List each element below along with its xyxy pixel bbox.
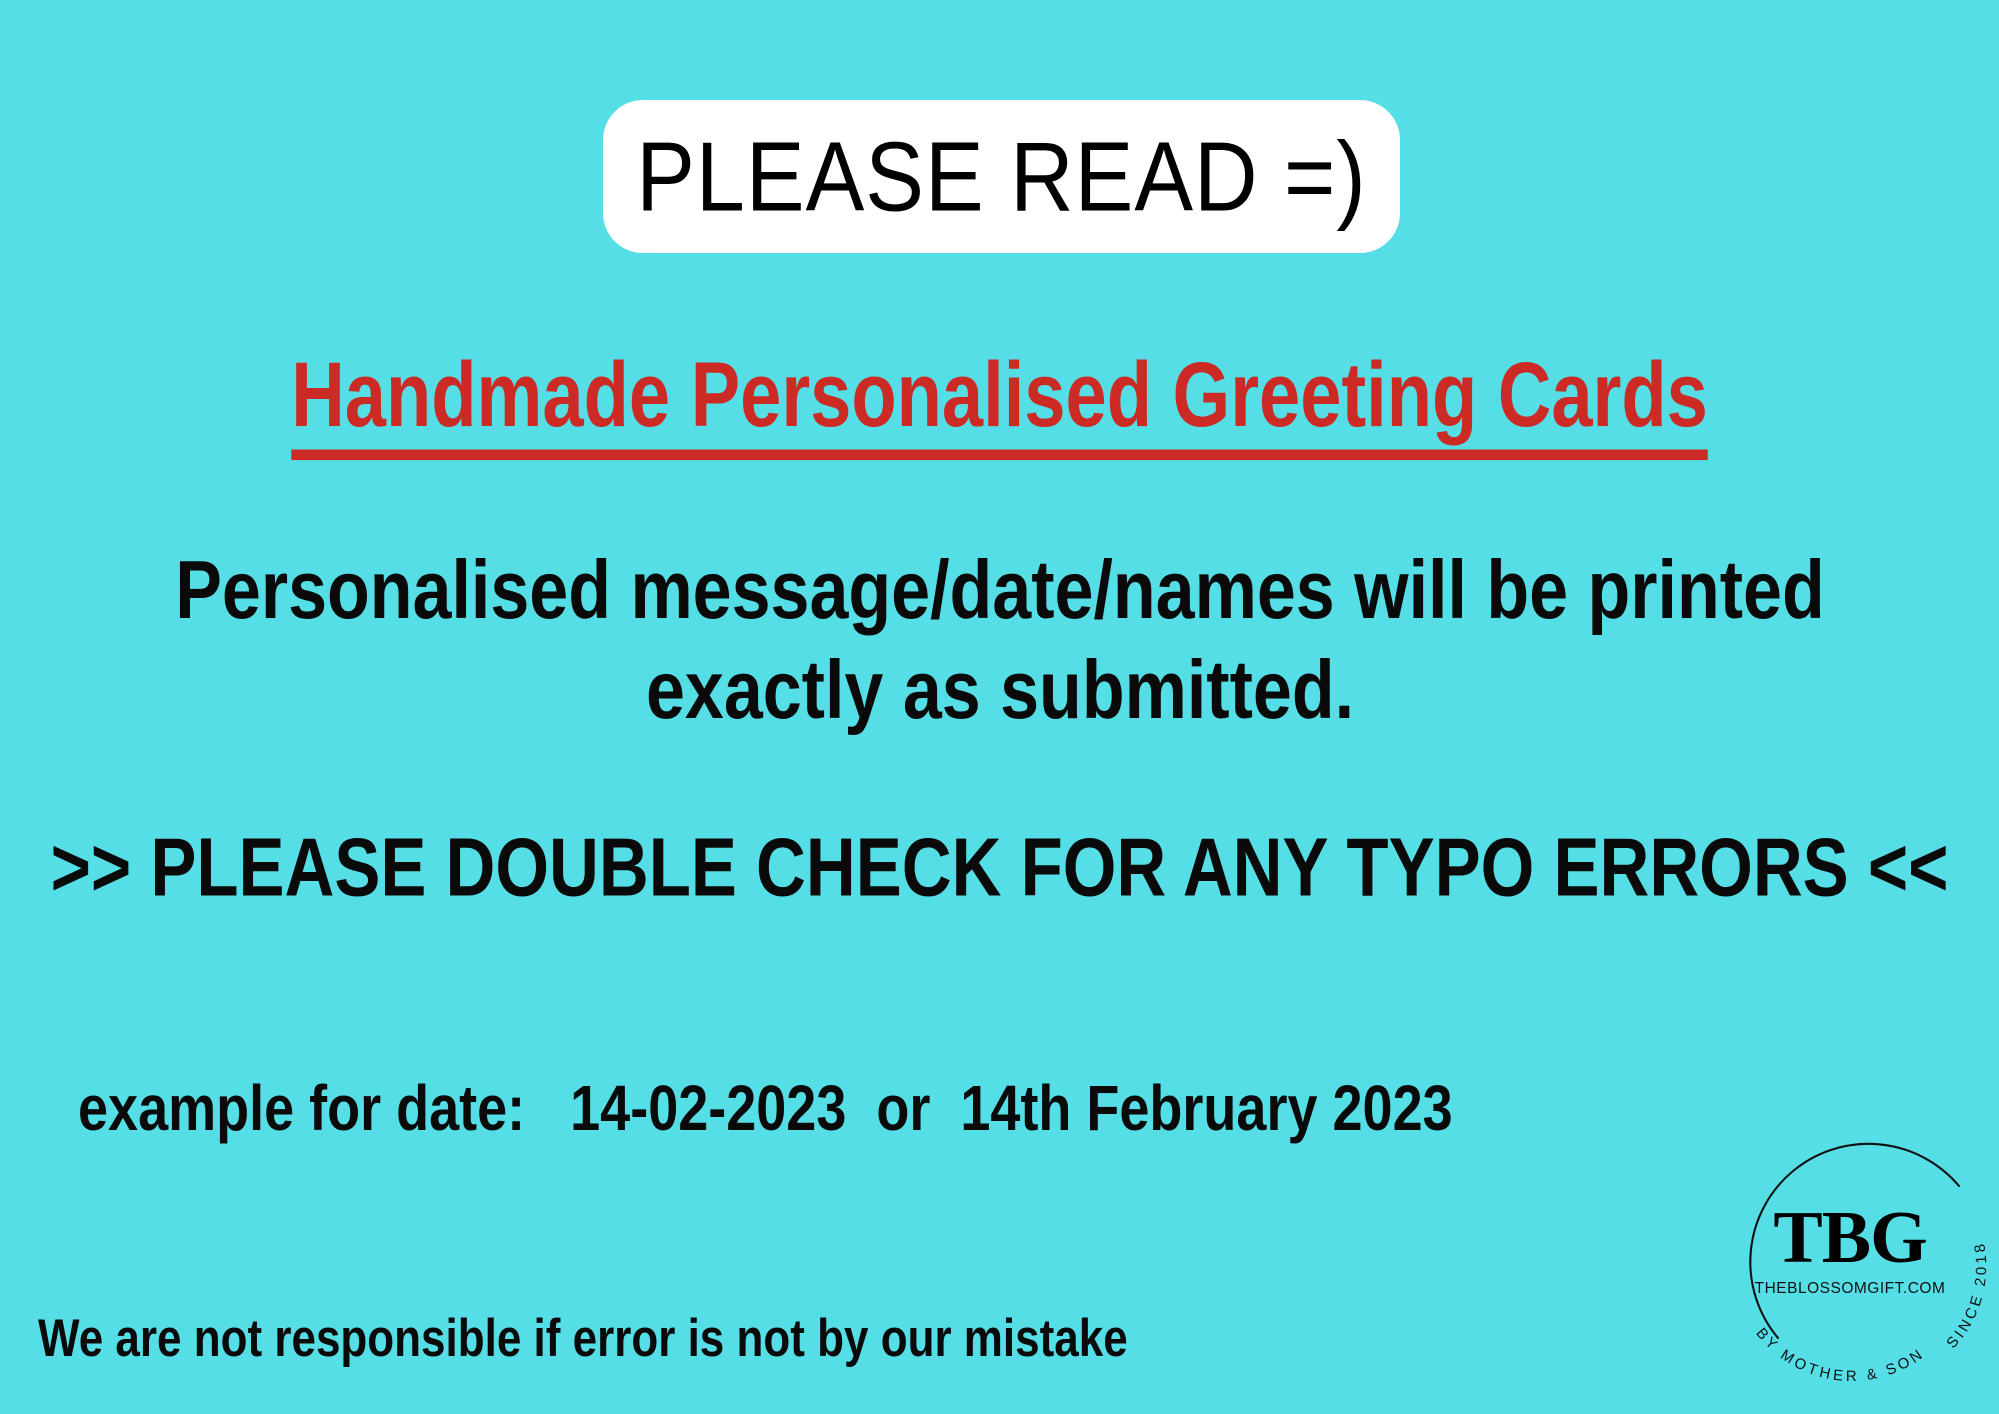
statement-line-1: Personalised message/date/names will be … xyxy=(120,540,1880,641)
logo-arc-right-path: SINCE 2018 xyxy=(1943,1239,1990,1351)
statement-line-2: exactly as submitted. xyxy=(120,641,1880,742)
statement-block: Personalised message/date/names will be … xyxy=(120,540,1880,742)
logo-arc-bottom-path: BY MOTHER & SON xyxy=(1752,1325,1928,1385)
please-read-banner-label: PLEASE READ =) xyxy=(636,127,1367,226)
logo-monogram: TBG xyxy=(1773,1197,1926,1279)
responsibility-disclaimer-text: We are not responsible if error is not b… xyxy=(38,1313,1128,1366)
logo-arc-right-text: SINCE 2018 xyxy=(1943,1239,1990,1351)
date-example-text: example for date: 14-02-2023 or 14th Feb… xyxy=(78,1077,1453,1141)
logo-arc-bottom-text: BY MOTHER & SON xyxy=(1752,1325,1928,1385)
tbg-logo: TBG THEBLOSSOMGIFT.COM BY MOTHER & SON S… xyxy=(1712,1122,1999,1412)
typo-warning-text: >> PLEASE DOUBLE CHECK FOR ANY TYPO ERRO… xyxy=(0,826,1999,909)
logo-domain-text: THEBLOSSOMGIFT.COM xyxy=(1755,1280,1946,1297)
headline-text: Handmade Personalised Greeting Cards xyxy=(291,348,1708,460)
please-read-banner: PLEASE READ =) xyxy=(603,100,1400,253)
headline: Handmade Personalised Greeting Cards xyxy=(0,348,1999,443)
poster-canvas: PLEASE READ =) Handmade Personalised Gre… xyxy=(0,0,1999,1414)
